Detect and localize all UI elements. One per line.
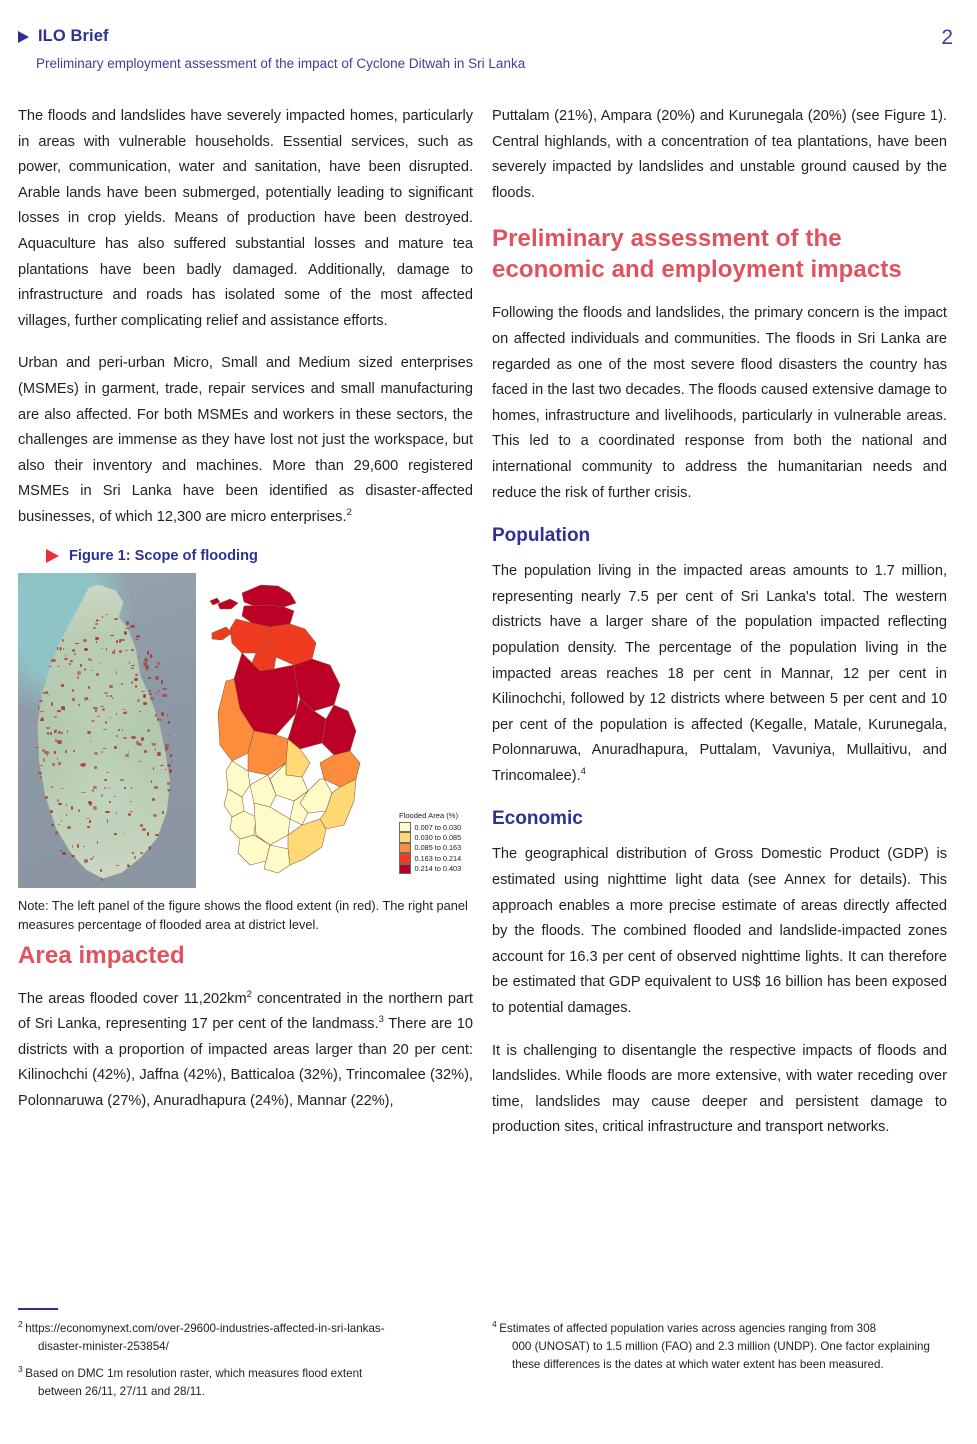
footnotes-left: 2https://economynext.com/over-29600-indu… [18, 1320, 473, 1410]
footnote-ref-2: 2 [347, 507, 352, 518]
legend-item: 0.214 to 0.403 [399, 864, 473, 874]
legend-swatch [399, 832, 411, 842]
triangle-red-icon [46, 549, 59, 563]
choropleth-svg [204, 573, 394, 888]
district-hambantota [288, 819, 326, 865]
figure-caption: Figure 1: Scope of flooding [46, 548, 473, 564]
footnotes-right: 4Estimates of affected population varies… [492, 1320, 947, 1383]
paragraph-population: The population living in the impacted ar… [492, 559, 947, 789]
paragraph-msmes: Urban and peri-urban Micro, Small and Me… [18, 351, 473, 530]
paragraph-msmes-text: Urban and peri-urban Micro, Small and Me… [18, 355, 473, 525]
paragraph-population-text: The population living in the impacted ar… [492, 563, 947, 784]
footnote-line-2: disaster-minister-253854/ [32, 1338, 473, 1356]
footnote-line-2: 000 (UNOSAT) to 1.5 million (FAO) and 2.… [506, 1338, 947, 1374]
paragraph-area-flooded: The areas flooded cover 11,202km2 concen… [18, 987, 473, 1115]
footnote-ref-4: 4 [581, 766, 586, 777]
left-column: The floods and landslides have severely … [18, 104, 473, 1114]
district-jaffna [242, 585, 296, 607]
footnote-line-2: between 26/11, 27/11 and 28/11. [32, 1383, 473, 1401]
document-subtitle: Preliminary employment assessment of the… [36, 56, 525, 71]
legend-swatch [399, 843, 411, 853]
legend-swatch [399, 864, 411, 874]
heading-population: Population [492, 523, 947, 548]
para3-part-a: The areas flooded cover 11,202km [18, 991, 247, 1007]
paragraph-districts-continued: Puttalam (21%), Ampara (20%) and Kuruneg… [492, 104, 947, 206]
figure-note: Note: The left panel of the figure shows… [18, 896, 473, 934]
brand-title: ILO Brief [38, 27, 109, 46]
footnote-line-1: Based on DMC 1m resolution raster, which… [25, 1367, 362, 1380]
footnote-item: 2https://economynext.com/over-29600-indu… [18, 1320, 473, 1356]
legend-label: 0.030 to 0.085 [415, 833, 462, 842]
paragraph-gdp: The geographical distribution of Gross D… [492, 842, 947, 1021]
footnote-separator-rule [18, 1308, 58, 1310]
district-jaffna-islets [218, 599, 238, 609]
legend-item: 0.085 to 0.163 [399, 843, 473, 853]
map-legend: Flooded Area (%) 0.007 to 0.030 0.030 to… [399, 811, 473, 874]
paragraph-disentangle: It is challenging to disentangle the res… [492, 1039, 947, 1141]
footnote-marker: 2 [18, 1319, 23, 1329]
brand-row: ILO Brief [18, 27, 109, 46]
footnote-item: 3Based on DMC 1m resolution raster, whic… [18, 1365, 473, 1401]
district-batticaloa [322, 705, 356, 755]
legend-item: 0.163 to 0.214 [399, 853, 473, 863]
heading-area-impacted: Area impacted [18, 940, 473, 971]
figure-right-panel-choropleth-map [204, 573, 394, 888]
legend-item: 0.030 to 0.085 [399, 832, 473, 842]
page-number: 2 [941, 26, 953, 50]
figure-caption-text: Figure 1: Scope of flooding [69, 548, 258, 564]
heading-preliminary-assessment: Preliminary assessment of the economic a… [492, 223, 947, 285]
image-haze [23, 581, 183, 881]
legend-swatch [399, 822, 411, 832]
legend-label: 0.163 to 0.214 [415, 854, 462, 863]
district-mannar-island [212, 627, 232, 640]
triangle-bullet-icon [18, 31, 29, 43]
legend-swatch [399, 853, 411, 863]
legend-title: Flooded Area (%) [399, 811, 473, 820]
footnote-marker: 3 [18, 1364, 23, 1374]
footnote-item: 4Estimates of affected population varies… [492, 1320, 947, 1374]
paragraph-following-floods: Following the floods and landslides, the… [492, 301, 947, 506]
figure-left-panel-satellite-map [18, 573, 196, 888]
legend-label: 0.214 to 0.403 [415, 864, 462, 873]
legend-label: 0.085 to 0.163 [415, 843, 462, 852]
legend-item: 0.007 to 0.030 [399, 822, 473, 832]
heading-economic: Economic [492, 806, 947, 831]
footnote-line-1: https://economynext.com/over-29600-indus… [25, 1322, 384, 1335]
right-column: Puttalam (21%), Ampara (20%) and Kuruneg… [492, 104, 947, 1141]
paragraph-floods-impact: The floods and landslides have severely … [18, 104, 473, 334]
legend-label: 0.007 to 0.030 [415, 823, 462, 832]
footnote-marker: 4 [492, 1319, 497, 1329]
footnote-line-1: Estimates of affected population varies … [499, 1322, 876, 1335]
page-header: ILO Brief Preliminary employment assessm… [0, 0, 977, 92]
document-page: ILO Brief Preliminary employment assessm… [0, 0, 977, 1444]
figure-1-scope-of-flooding: Flooded Area (%) 0.007 to 0.030 0.030 to… [18, 573, 473, 888]
